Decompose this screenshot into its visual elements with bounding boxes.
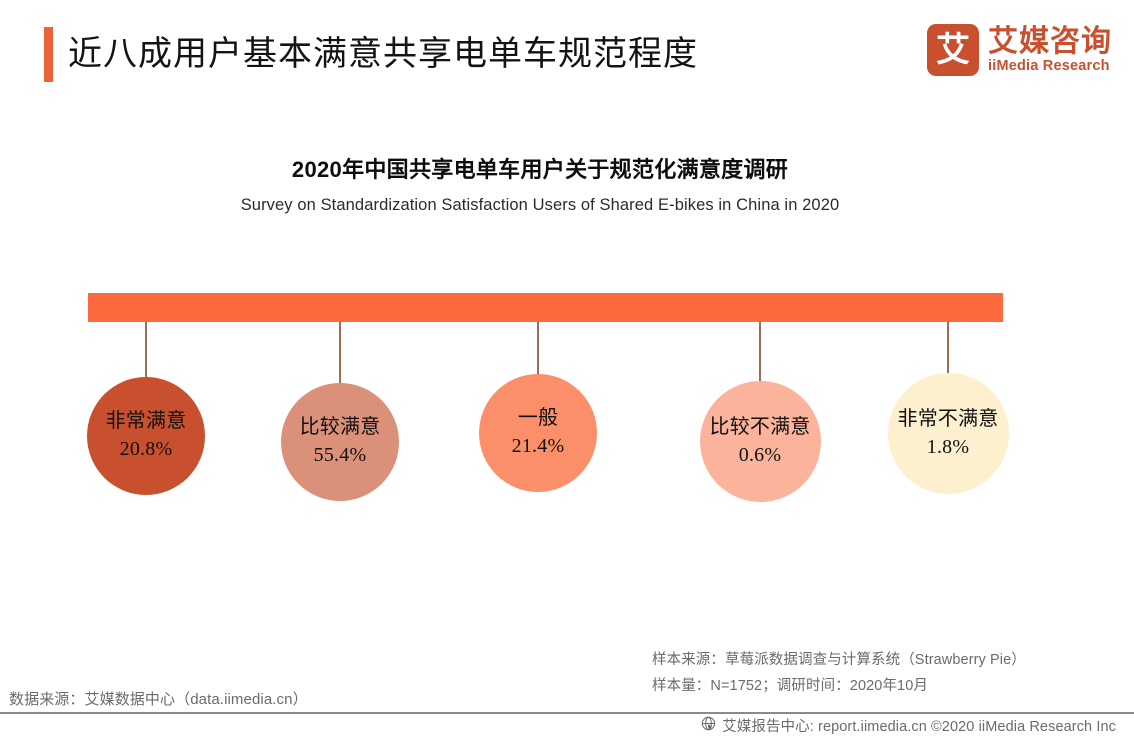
globe-icon: [701, 716, 716, 736]
sample-size-note: 样本量：N=1752；调研时间：2020年10月: [652, 674, 928, 695]
chart-plot-area: 非常满意20.8%比较满意55.4%一般21.4%比较不满意0.6%非常不满意1…: [0, 0, 1134, 737]
chart-bubble: 非常满意20.8%: [87, 377, 205, 495]
bubble-value: 21.4%: [512, 431, 565, 461]
footer-bar: 艾媒报告中心: report.iimedia.cn ©2020 iiMedia …: [0, 714, 1134, 737]
chart-subtitle: Survey on Standardization Satisfaction U…: [0, 196, 1080, 215]
title-accent-bar: [44, 27, 53, 82]
connector-line: [145, 322, 147, 381]
bubble-label: 非常不满意: [898, 406, 999, 432]
bubble-label: 一般: [518, 405, 558, 431]
bubble-label: 非常满意: [106, 408, 187, 434]
chart-top-bar: [88, 293, 1003, 322]
data-source-note: 数据来源：艾媒数据中心（data.iimedia.cn）: [9, 688, 308, 709]
brand-name-cn: 艾媒咨询: [988, 26, 1112, 58]
connector-line: [947, 322, 949, 377]
connector-line: [339, 322, 341, 387]
chart-bubble: 比较不满意0.6%: [700, 381, 821, 502]
bubble-value: 55.4%: [314, 440, 367, 470]
bubble-value: 20.8%: [120, 434, 173, 464]
bubble-label: 比较满意: [300, 414, 381, 440]
brand-name-en: iiMedia Research: [988, 58, 1112, 75]
page-header: 近八成用户基本满意共享电单车规范程度 艾 艾媒咨询 iiMedia Resear…: [0, 0, 1134, 104]
chart-bubble: 一般21.4%: [479, 374, 597, 492]
chart-bubble: 非常不满意1.8%: [888, 373, 1009, 494]
brand-text: 艾媒咨询 iiMedia Research: [988, 26, 1112, 75]
bubble-label: 比较不满意: [710, 414, 811, 440]
connector-line: [537, 322, 539, 378]
footer-copyright: 艾媒报告中心: report.iimedia.cn ©2020 iiMedia …: [722, 715, 1116, 736]
chart-bubble: 比较满意55.4%: [281, 383, 399, 501]
page-title: 近八成用户基本满意共享电单车规范程度: [68, 30, 698, 78]
sample-source-note: 样本来源：草莓派数据调查与计算系统（Strawberry Pie）: [652, 648, 1026, 669]
chart-title: 2020年中国共享电单车用户关于规范化满意度调研: [0, 152, 1080, 184]
bubble-value: 1.8%: [927, 432, 969, 462]
bubble-value: 0.6%: [739, 440, 781, 470]
iimedia-logo-icon: 艾: [927, 24, 979, 76]
connector-line: [759, 322, 761, 385]
brand-logo: 艾 艾媒咨询 iiMedia Research: [927, 24, 1112, 76]
